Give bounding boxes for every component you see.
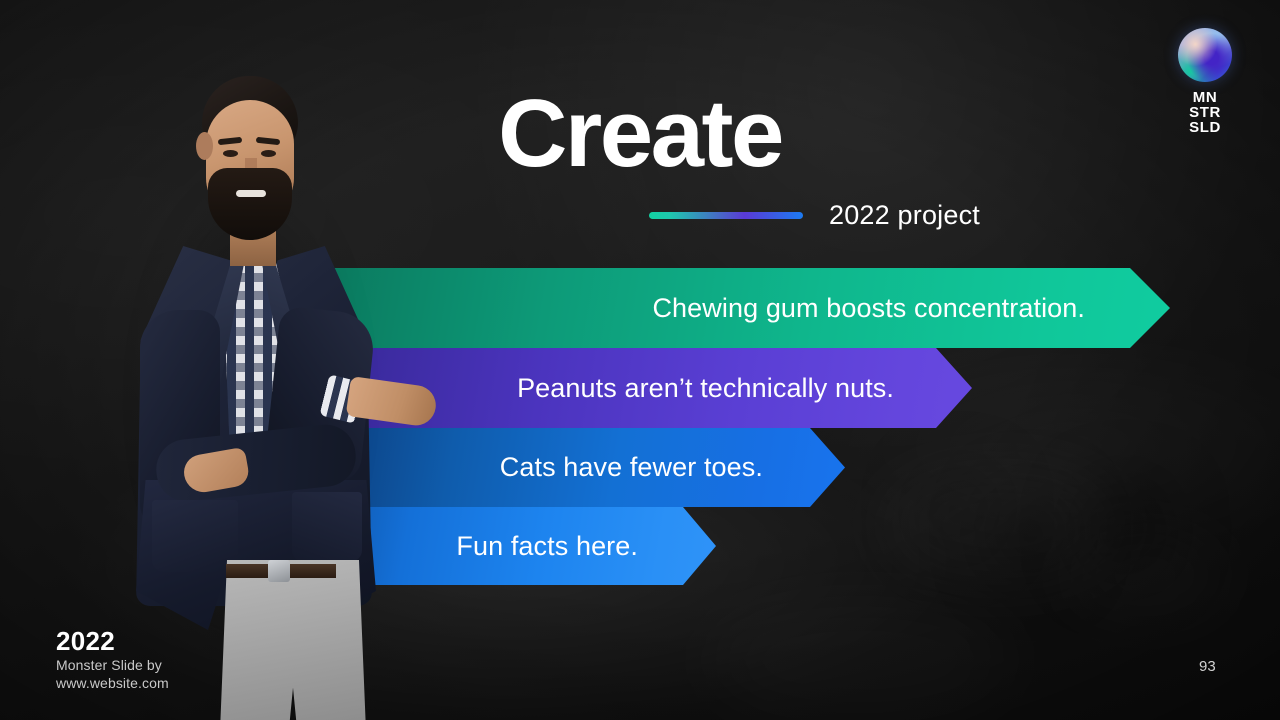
arrow-bar-2-label: Peanuts aren’t technically nuts.	[517, 373, 894, 404]
arrow-bar-1-label: Chewing gum boosts concentration.	[652, 293, 1085, 324]
photo-belt-buckle	[268, 560, 290, 582]
slide-canvas: MN STR SLD Create 2022 project Chewing g…	[0, 0, 1280, 720]
arrow-bar-2[interactable]: Peanuts aren’t technically nuts.	[360, 348, 972, 428]
page-number: 93	[1199, 658, 1216, 675]
presenter-photo	[96, 60, 402, 720]
arrow-bar-1[interactable]: Chewing gum boosts concentration.	[330, 268, 1170, 348]
arrow-bar-4-label: Fun facts here.	[456, 531, 638, 562]
photo-pocket-left	[152, 500, 238, 572]
photo-pocket-right	[292, 492, 362, 562]
photo-ear-left	[196, 132, 213, 160]
photo-eye-right	[261, 150, 276, 157]
photo-mouth	[236, 190, 266, 197]
photo-eye-left	[223, 150, 238, 157]
arrow-bar-3-label: Cats have fewer toes.	[500, 452, 763, 483]
